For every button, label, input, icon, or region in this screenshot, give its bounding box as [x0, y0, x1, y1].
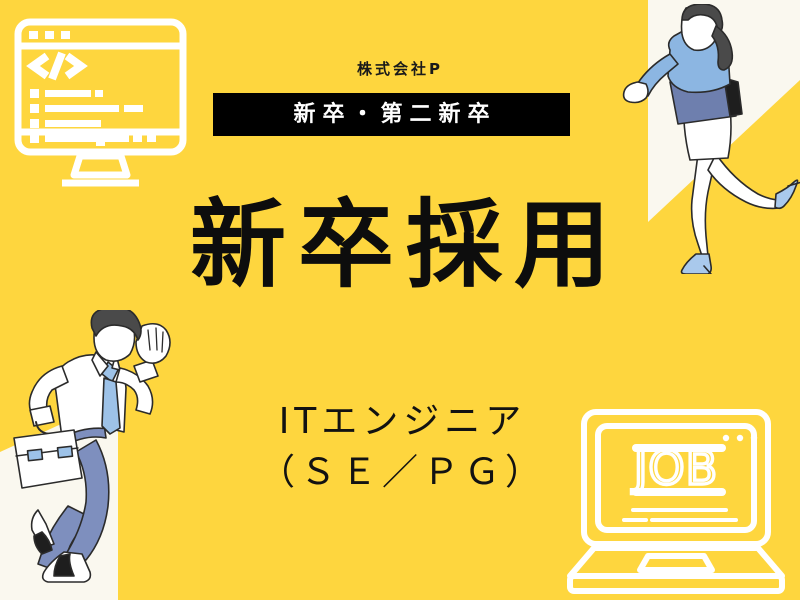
woman-hand [624, 82, 648, 103]
graduate-category-banner: 新卒・第二新卒 [213, 93, 570, 136]
code-monitor-icon [14, 18, 194, 190]
recruitment-poster: JOB [0, 0, 800, 600]
job-role-block: ITエンジニア （ＳＥ／ＰＧ） [0, 396, 800, 498]
company-name: 株式会社P [0, 62, 800, 77]
job-role-line-2: （ＳＥ／ＰＧ） [0, 447, 800, 498]
graduate-category-label: 新卒・第二新卒 [286, 104, 496, 126]
window-dots-group [29, 31, 70, 39]
job-role-line-1: ITエンジニア [0, 396, 800, 447]
page-title: 新卒採用 [0, 192, 800, 300]
